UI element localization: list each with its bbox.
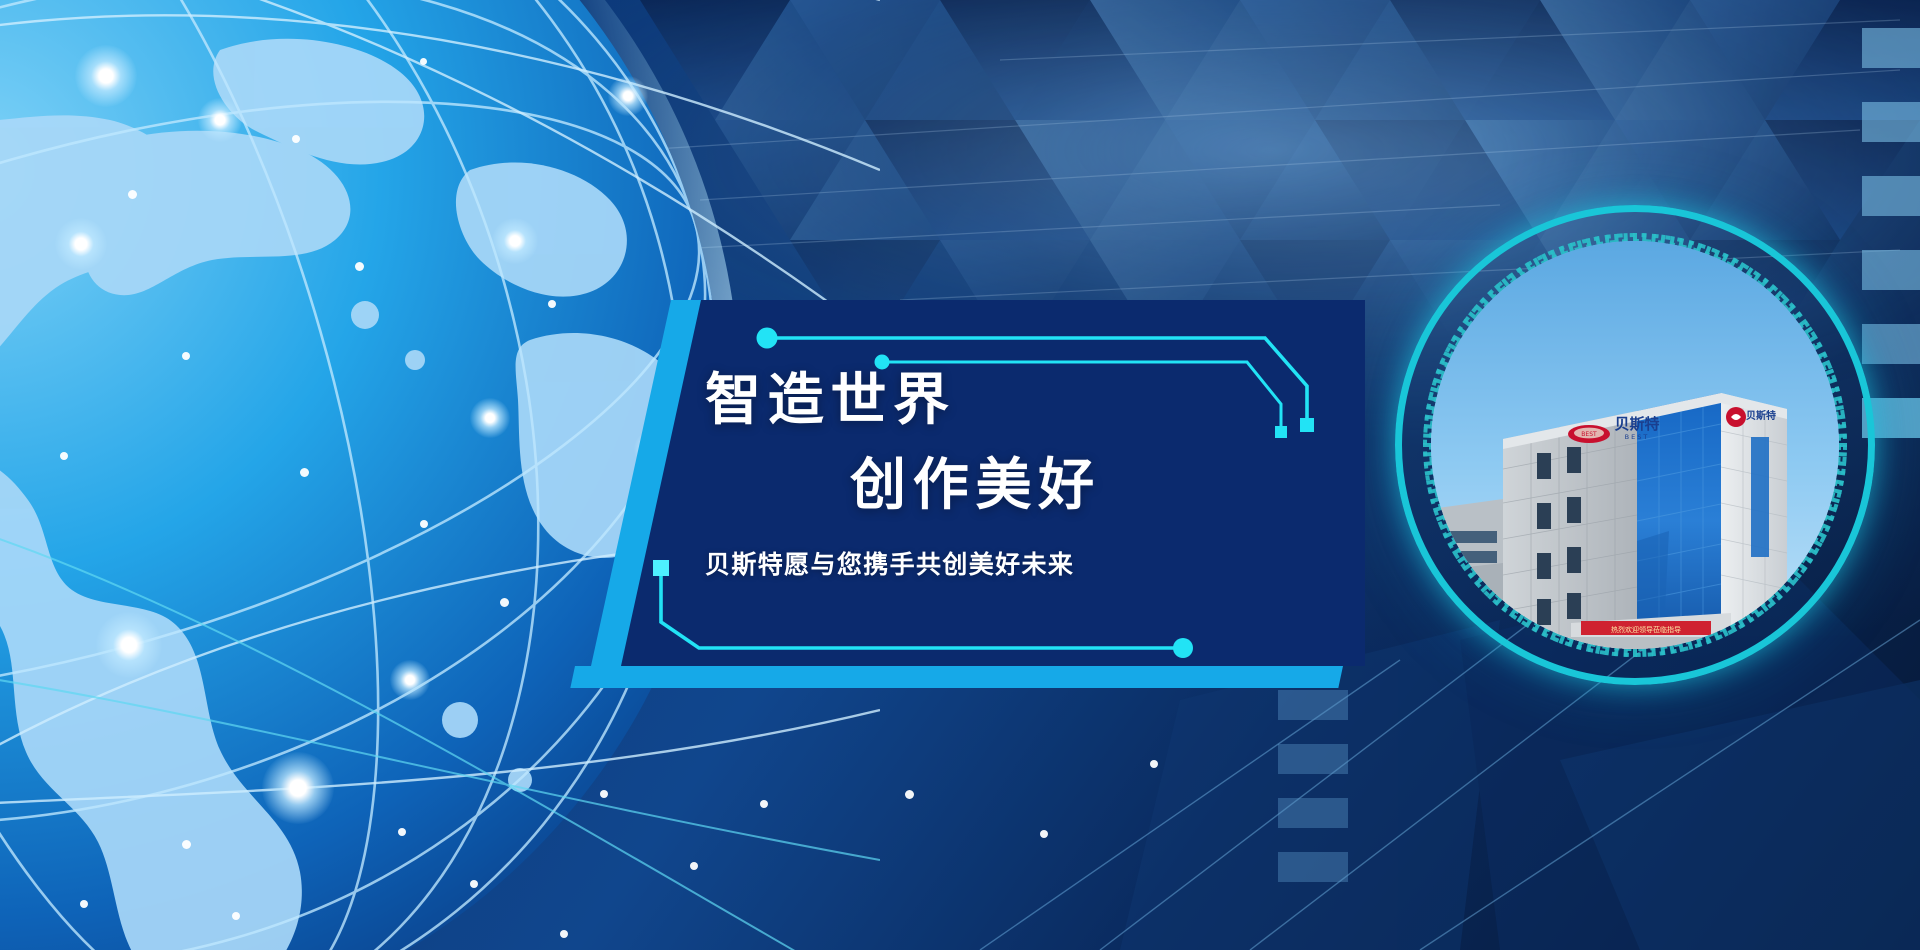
network-node-dot xyxy=(548,300,556,308)
lower-block-stack xyxy=(1278,690,1348,882)
svg-text:贝斯特: 贝斯特 xyxy=(1746,409,1776,422)
building-photo: BEST 贝斯特 BEST 贝斯特 热烈欢迎领导莅临指导 xyxy=(1431,241,1839,649)
network-node-dot xyxy=(182,352,190,360)
subtitle-text: 贝斯特愿与您携手共创美好未来 xyxy=(705,545,1074,581)
panel-bottom-bar xyxy=(570,666,1343,688)
network-node-dot xyxy=(600,790,608,798)
network-node-dot xyxy=(355,262,364,271)
network-node-dot xyxy=(560,930,568,938)
network-node-dot xyxy=(292,135,300,143)
network-node-dot xyxy=(232,912,240,920)
network-node-dot xyxy=(80,900,88,908)
headline-panel: 智造世界 创作美好 贝斯特愿与您携手共创美好未来 xyxy=(575,300,1365,680)
network-node-dot xyxy=(60,452,68,460)
network-node-dot xyxy=(690,862,698,870)
network-node-dot xyxy=(500,598,509,607)
network-node-dot xyxy=(1040,830,1048,838)
network-node-dot xyxy=(420,520,428,528)
network-node-dot xyxy=(905,790,914,799)
svg-text:BEST: BEST xyxy=(1581,431,1597,438)
network-node-dot xyxy=(300,468,309,477)
hero-banner: BEST 贝斯特 BEST 贝斯特 热烈欢迎领导莅临指导 xyxy=(0,0,1920,950)
network-node-dot xyxy=(128,190,137,199)
svg-text:贝斯特: 贝斯特 xyxy=(1614,415,1659,433)
svg-text:BEST: BEST xyxy=(1625,433,1650,441)
network-node-dot xyxy=(760,800,768,808)
headline-line-2: 创作美好 xyxy=(850,440,1101,521)
network-node-dot xyxy=(470,880,478,888)
svg-text:热烈欢迎领导莅临指导: 热烈欢迎领导莅临指导 xyxy=(1611,625,1681,634)
network-node-dot xyxy=(398,828,406,836)
network-node-dot xyxy=(1150,760,1158,768)
building-photo-circle: BEST 贝斯特 BEST 贝斯特 热烈欢迎领导莅临指导 xyxy=(1395,205,1875,685)
headline-line-1: 智造世界 xyxy=(705,355,956,436)
network-node-dot xyxy=(420,58,427,65)
network-node-dot xyxy=(182,840,191,849)
